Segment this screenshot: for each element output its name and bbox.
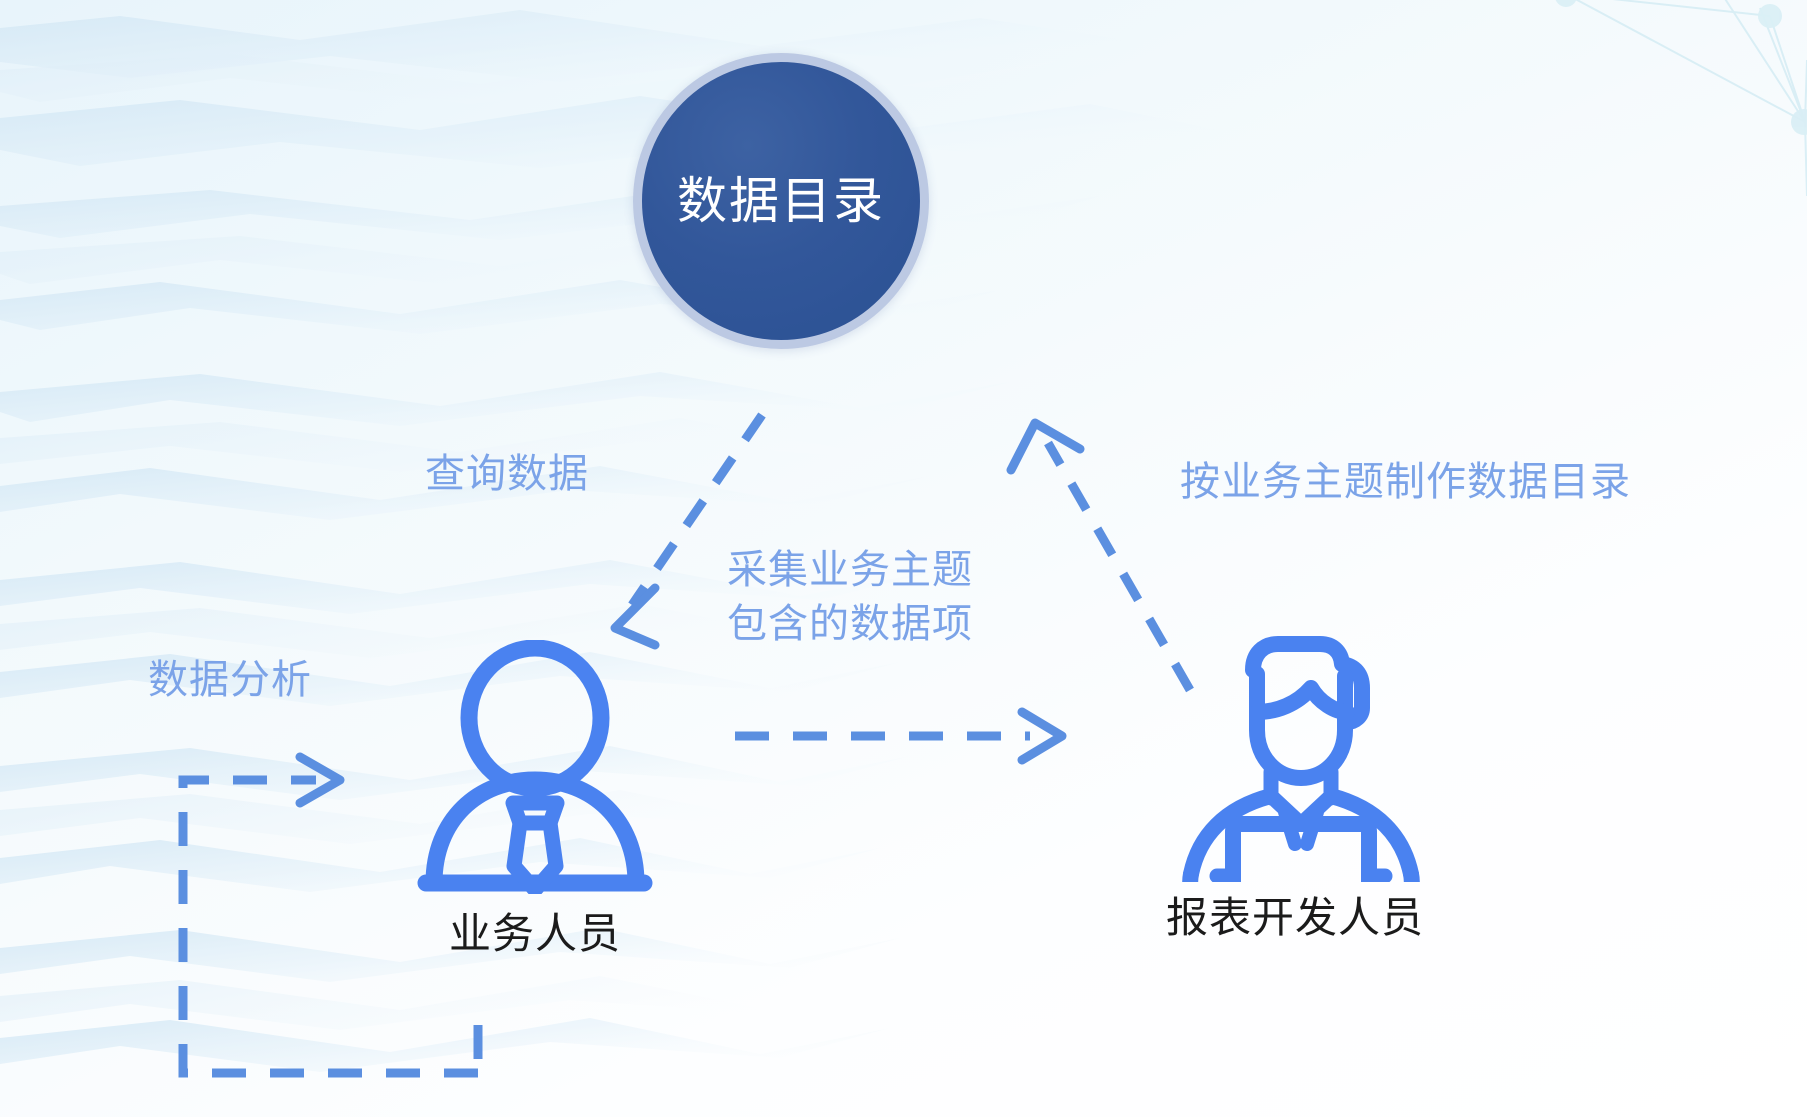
- arrow-collect-data-items: [735, 712, 1062, 760]
- edge-label-build-catalog: 按业务主题制作数据目录: [1180, 455, 1631, 509]
- edge-label-collect-line2: 包含的数据项: [727, 597, 973, 651]
- edge-label-collect-line1: 采集业务主题: [727, 548, 973, 592]
- person-with-tie-icon: [412, 640, 658, 894]
- actor-business-personnel-label: 业务人员: [449, 900, 621, 961]
- edge-label-collect-data-items: 采集业务主题 包含的数据项: [727, 543, 973, 652]
- actor-report-developer[interactable]: 报表开发人员: [1145, 612, 1445, 945]
- actor-business-personnel[interactable]: 业务人员: [390, 640, 680, 961]
- diagram-canvas: 数据目录 查询数据 按业务主题制作数据目录 采集业务主题 包含的数据项 数据分析…: [0, 0, 1807, 1117]
- data-catalog-node[interactable]: 数据目录: [633, 53, 929, 349]
- edge-label-query-data: 查询数据: [425, 447, 589, 501]
- data-catalog-node-label: 数据目录: [677, 176, 885, 226]
- actor-report-developer-label: 报表开发人员: [1166, 884, 1424, 945]
- edge-label-data-analysis: 数据分析: [148, 653, 312, 707]
- person-with-laptop-icon: [1165, 612, 1425, 882]
